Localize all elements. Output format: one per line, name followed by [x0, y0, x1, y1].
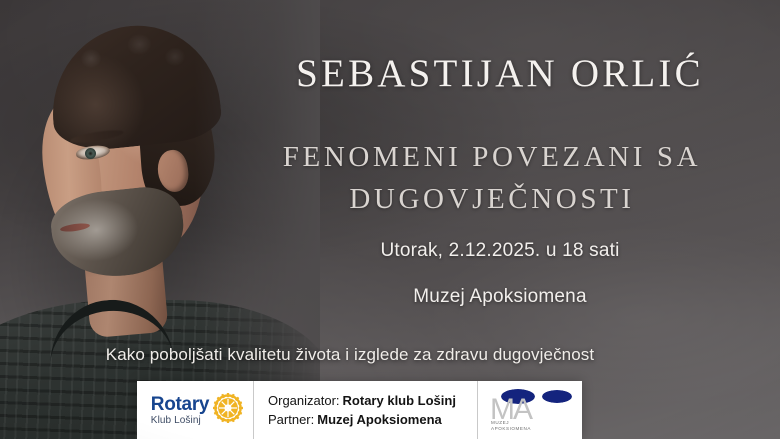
rotary-club-logo: Rotary Klub Lošinj: [137, 381, 254, 439]
credit-row-partner: Partner:Muzej Apoksiomena: [268, 410, 477, 430]
rotary-club-name: Klub Lošinj: [151, 416, 209, 426]
credit-row-organizer: Organizator:Rotary klub Lošinj: [268, 391, 477, 411]
organizer-label: Organizator:: [268, 393, 340, 408]
event-tagline: Kako poboljšati kvalitetu života i izgle…: [0, 345, 700, 365]
rotary-wordmark: Rotary: [151, 395, 209, 414]
speaker-name: SEBASTIJAN ORLIĆ: [250, 54, 750, 95]
talk-title-line-1: FENOMENI POVEZANI SA: [232, 136, 752, 178]
blue-lens-shape-icon-secondary: [542, 390, 572, 403]
event-venue: Muzej Apoksiomena: [250, 286, 750, 308]
partner-label: Partner:: [268, 412, 314, 427]
credit-text-block: Organizator:Rotary klub Lošinj Partner:M…: [254, 381, 478, 439]
rotary-gear-wheel-icon: [213, 393, 243, 428]
event-poster: SEBASTIJAN ORLIĆ FENOMENI POVEZANI SA DU…: [0, 0, 780, 439]
event-date-time: Utorak, 2.12.2025. u 18 sati: [250, 240, 750, 262]
organizer-value: Rotary klub Lošinj: [343, 393, 456, 408]
talk-title: FENOMENI POVEZANI SA DUGOVJEČNOSTI: [232, 136, 752, 221]
credit-bar: Rotary Klub Lošinj: [137, 381, 582, 439]
partner-value: Muzej Apoksiomena: [317, 412, 441, 427]
talk-title-line-2: DUGOVJEČNOSTI: [232, 178, 752, 220]
museum-caption: MUZEJ APOKSIOMENA: [491, 420, 531, 432]
museum-logo: MA MUZEJ APOKSIOMENA: [478, 381, 582, 439]
